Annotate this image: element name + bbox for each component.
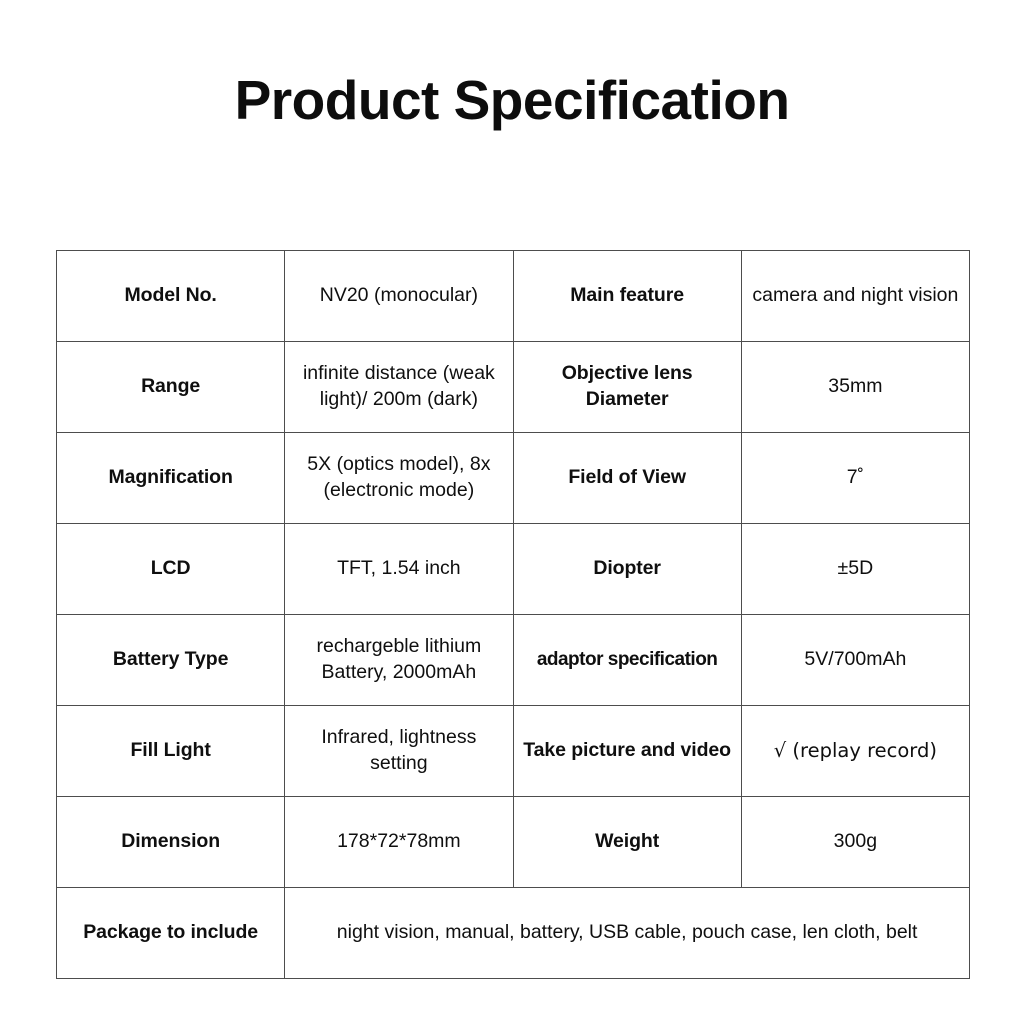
spec-label-fill-light: Fill Light [57,706,285,797]
table-row: Magnification 5X (optics model), 8x (ele… [57,433,970,524]
spec-value-dimension: 178*72*78mm [285,797,513,888]
spec-label-take-picture-and-video: Take picture and video [513,706,741,797]
table-row: Package to include night vision, manual,… [57,888,970,979]
spec-label-diopter: Diopter [513,524,741,615]
spec-value-lcd: TFT, 1.54 inch [285,524,513,615]
table-row: Dimension 178*72*78mm Weight 300g [57,797,970,888]
spec-label-field-of-view: Field of View [513,433,741,524]
page-title: Product Specification [0,72,1024,130]
specification-table: Model No. NV20 (monocular) Main feature … [56,250,970,979]
spec-label-range: Range [57,342,285,433]
table-row: Fill Light Infrared, lightness setting T… [57,706,970,797]
spec-label-model-no: Model No. [57,251,285,342]
spec-value-magnification: 5X (optics model), 8x (electronic mode) [285,433,513,524]
spec-label-battery-type: Battery Type [57,615,285,706]
spec-label-weight: Weight [513,797,741,888]
table-row: Range infinite distance (weak light)/ 20… [57,342,970,433]
spec-value-fill-light: Infrared, lightness setting [285,706,513,797]
spec-value-battery-type: rechargeble lithium Battery, 2000mAh [285,615,513,706]
spec-value-objective-lens-diameter: 35mm [741,342,969,433]
spec-value-diopter: ±5D [741,524,969,615]
spec-label-adaptor-specification: adaptor specification [513,615,741,706]
spec-label-magnification: Magnification [57,433,285,524]
spec-label-package-to-include: Package to include [57,888,285,979]
spec-value-field-of-view: 7˚ [741,433,969,524]
spec-value-adaptor-specification: 5V/700mAh [741,615,969,706]
spec-value-take-picture-and-video: √ (replay record) [741,706,969,797]
spec-label-main-feature: Main feature [513,251,741,342]
spec-value-main-feature: camera and night vision [741,251,969,342]
spec-label-dimension: Dimension [57,797,285,888]
table-row: LCD TFT, 1.54 inch Diopter ±5D [57,524,970,615]
spec-value-model-no: NV20 (monocular) [285,251,513,342]
spec-value-range: infinite distance (weak light)/ 200m (da… [285,342,513,433]
spec-value-package-to-include: night vision, manual, battery, USB cable… [285,888,970,979]
table-row: Model No. NV20 (monocular) Main feature … [57,251,970,342]
spec-value-weight: 300g [741,797,969,888]
spec-label-lcd: LCD [57,524,285,615]
table-row: Battery Type rechargeble lithium Battery… [57,615,970,706]
spec-label-objective-lens-diameter: Objective lens Diameter [513,342,741,433]
specification-table-body: Model No. NV20 (monocular) Main feature … [57,251,970,979]
product-specification-page: Product Specification Model No. NV20 (mo… [0,0,1024,1024]
